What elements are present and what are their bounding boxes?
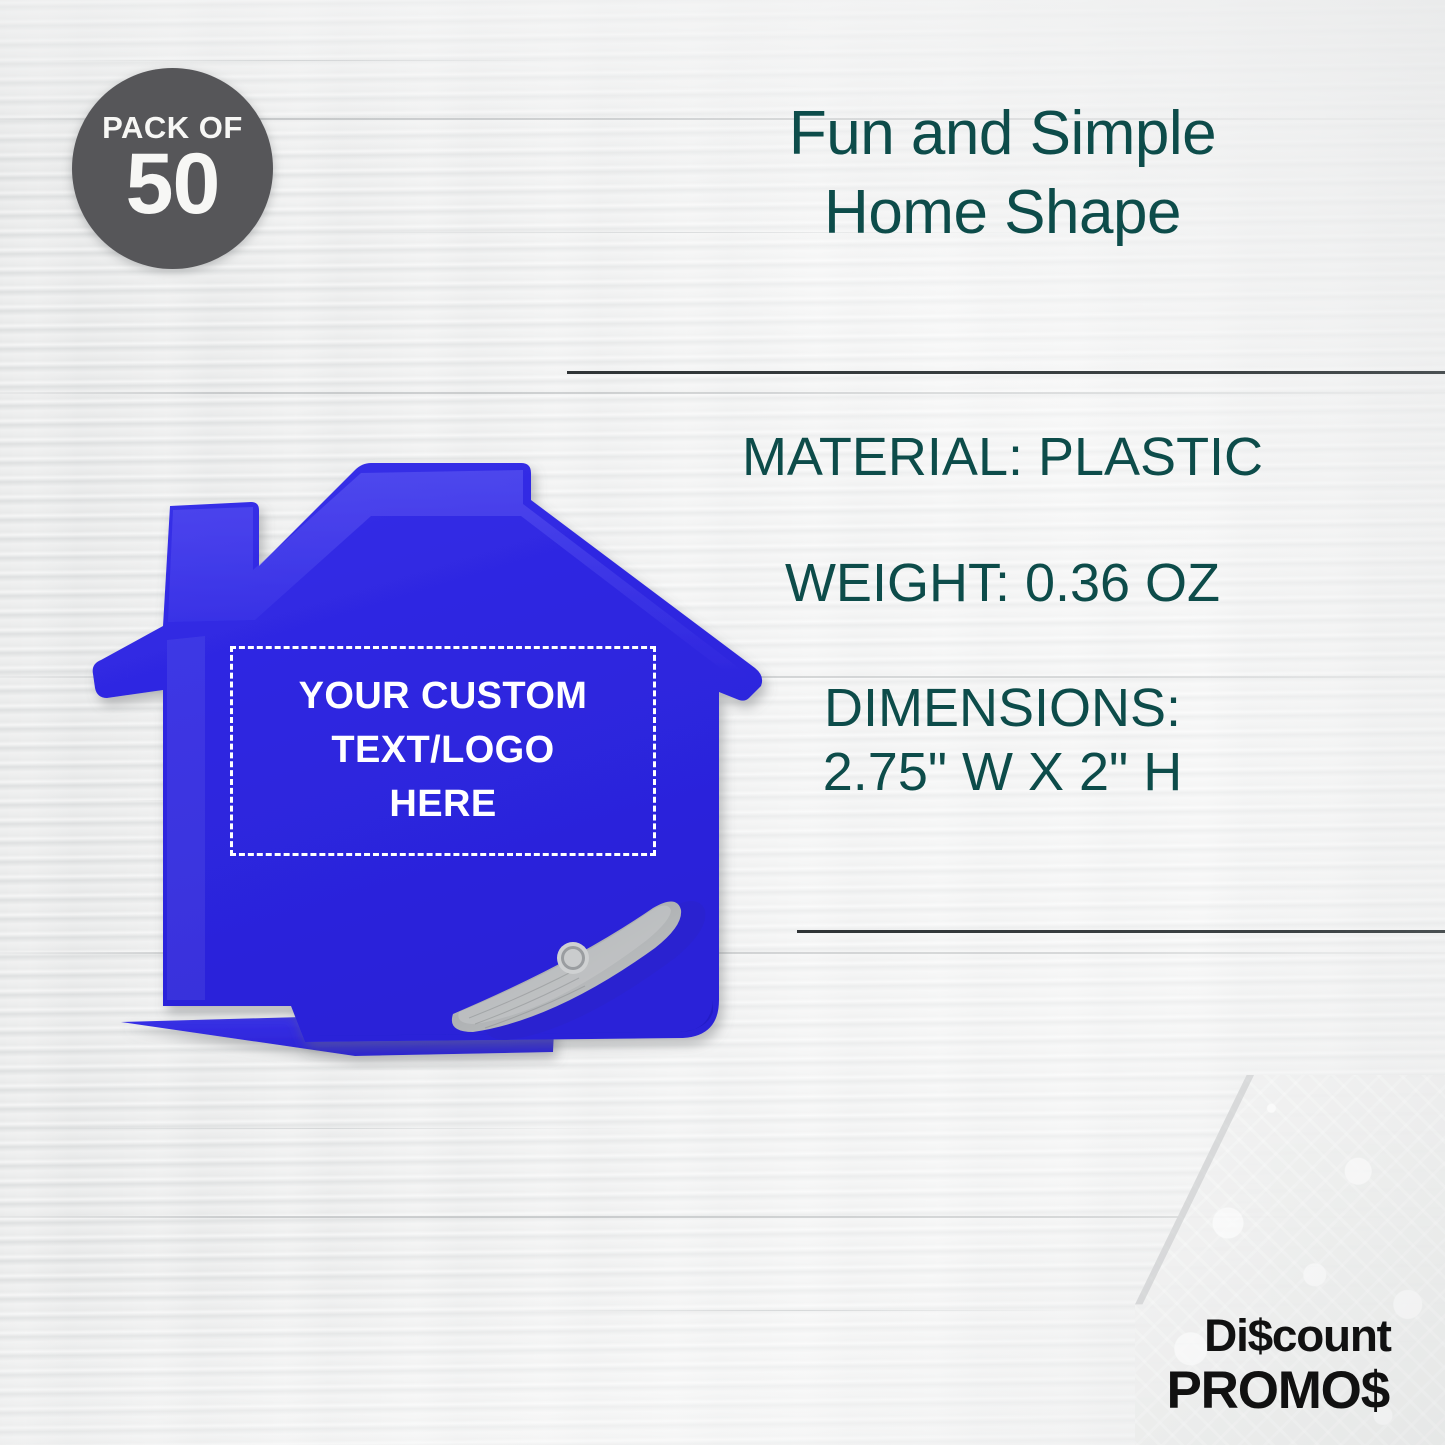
page-title: Fun and Simple Home Shape: [560, 94, 1445, 253]
headline-line-2: Home Shape: [560, 173, 1445, 252]
brand-logo: Di$count PROMO$: [1166, 1313, 1389, 1417]
spec-weight: WEIGHT: 0.36 OZ: [560, 552, 1445, 616]
imprint-line-1: YOUR CUSTOM: [299, 670, 588, 724]
wood-grain-line: [520, 1310, 1080, 1311]
wood-grain-line: [0, 1128, 640, 1129]
imprint-line-2: TEXT/LOGO: [331, 724, 554, 778]
divider-bottom: [797, 930, 1445, 933]
badge-quantity-value: 50: [126, 145, 220, 224]
spec-list: MATERIAL: PLASTIC WEIGHT: 0.36 OZ DIMENS…: [560, 426, 1445, 805]
brand-logo-line-1: Di$count: [1164, 1313, 1391, 1358]
pack-quantity-badge: PACK OF 50: [72, 68, 273, 269]
product-marketing-image: PACK OF 50: [0, 0, 1445, 1445]
brand-logo-line-2: PROMO$: [1166, 1364, 1389, 1417]
headline-line-1: Fun and Simple: [560, 94, 1445, 173]
info-panel: Fun and Simple Home Shape MATERIAL: PLAS…: [560, 74, 1445, 974]
wood-grain-line: [40, 60, 560, 61]
spec-dimensions: DIMENSIONS: 2.75" W X 2" H: [560, 677, 1445, 804]
divider-top: [567, 371, 1445, 374]
spec-material: MATERIAL: PLASTIC: [560, 426, 1445, 490]
imprint-line-3: HERE: [389, 778, 496, 832]
